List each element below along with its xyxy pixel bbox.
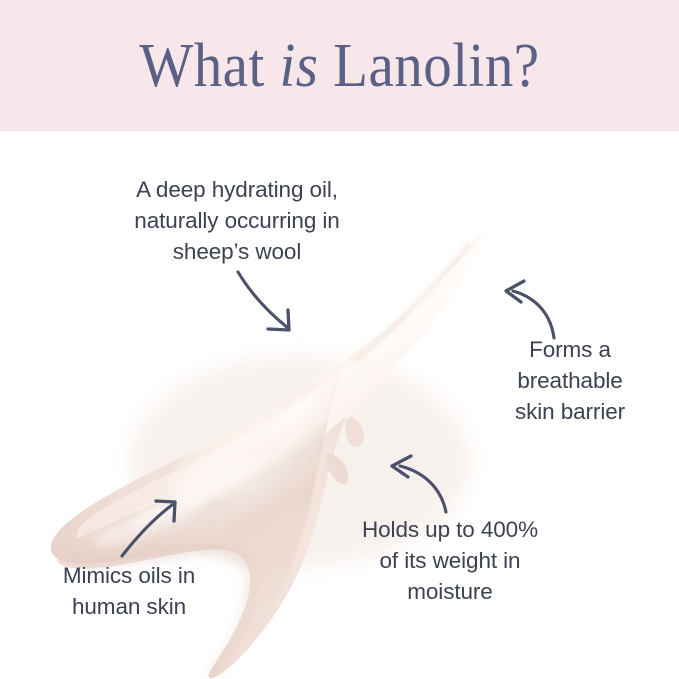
callout-line: Holds up to 400% <box>330 514 570 545</box>
callout-line: Mimics oils in <box>20 560 238 591</box>
callout-deep-hydrating-oil: A deep hydrating oil, naturally occurrin… <box>92 174 382 267</box>
callout-line: of its weight in <box>330 545 570 576</box>
callout-line: naturally occurring in <box>92 205 382 236</box>
callout-line: moisture <box>330 576 570 607</box>
callout-line: breathable <box>474 365 666 396</box>
callout-line: A deep hydrating oil, <box>92 174 382 205</box>
callout-line: human skin <box>20 591 238 622</box>
lanolin-infographic: What is Lanolin? <box>0 0 679 679</box>
callout-line: skin barrier <box>474 396 666 427</box>
callout-holds-400-percent: Holds up to 400% of its weight in moistu… <box>330 514 570 607</box>
callout-breathable-skin-barrier: Forms a breathable skin barrier <box>474 334 666 427</box>
curved-arrow-up-left-icon-barrier <box>506 281 554 338</box>
callout-line: sheep’s wool <box>92 236 382 267</box>
curved-arrow-up-right-icon <box>122 501 175 556</box>
curved-arrow-up-left-icon-holds <box>392 456 446 512</box>
callout-mimics-oils-in-human-skin: Mimics oils in human skin <box>20 560 238 622</box>
callout-line: Forms a <box>474 334 666 365</box>
curved-arrow-down-right-icon <box>238 272 289 330</box>
